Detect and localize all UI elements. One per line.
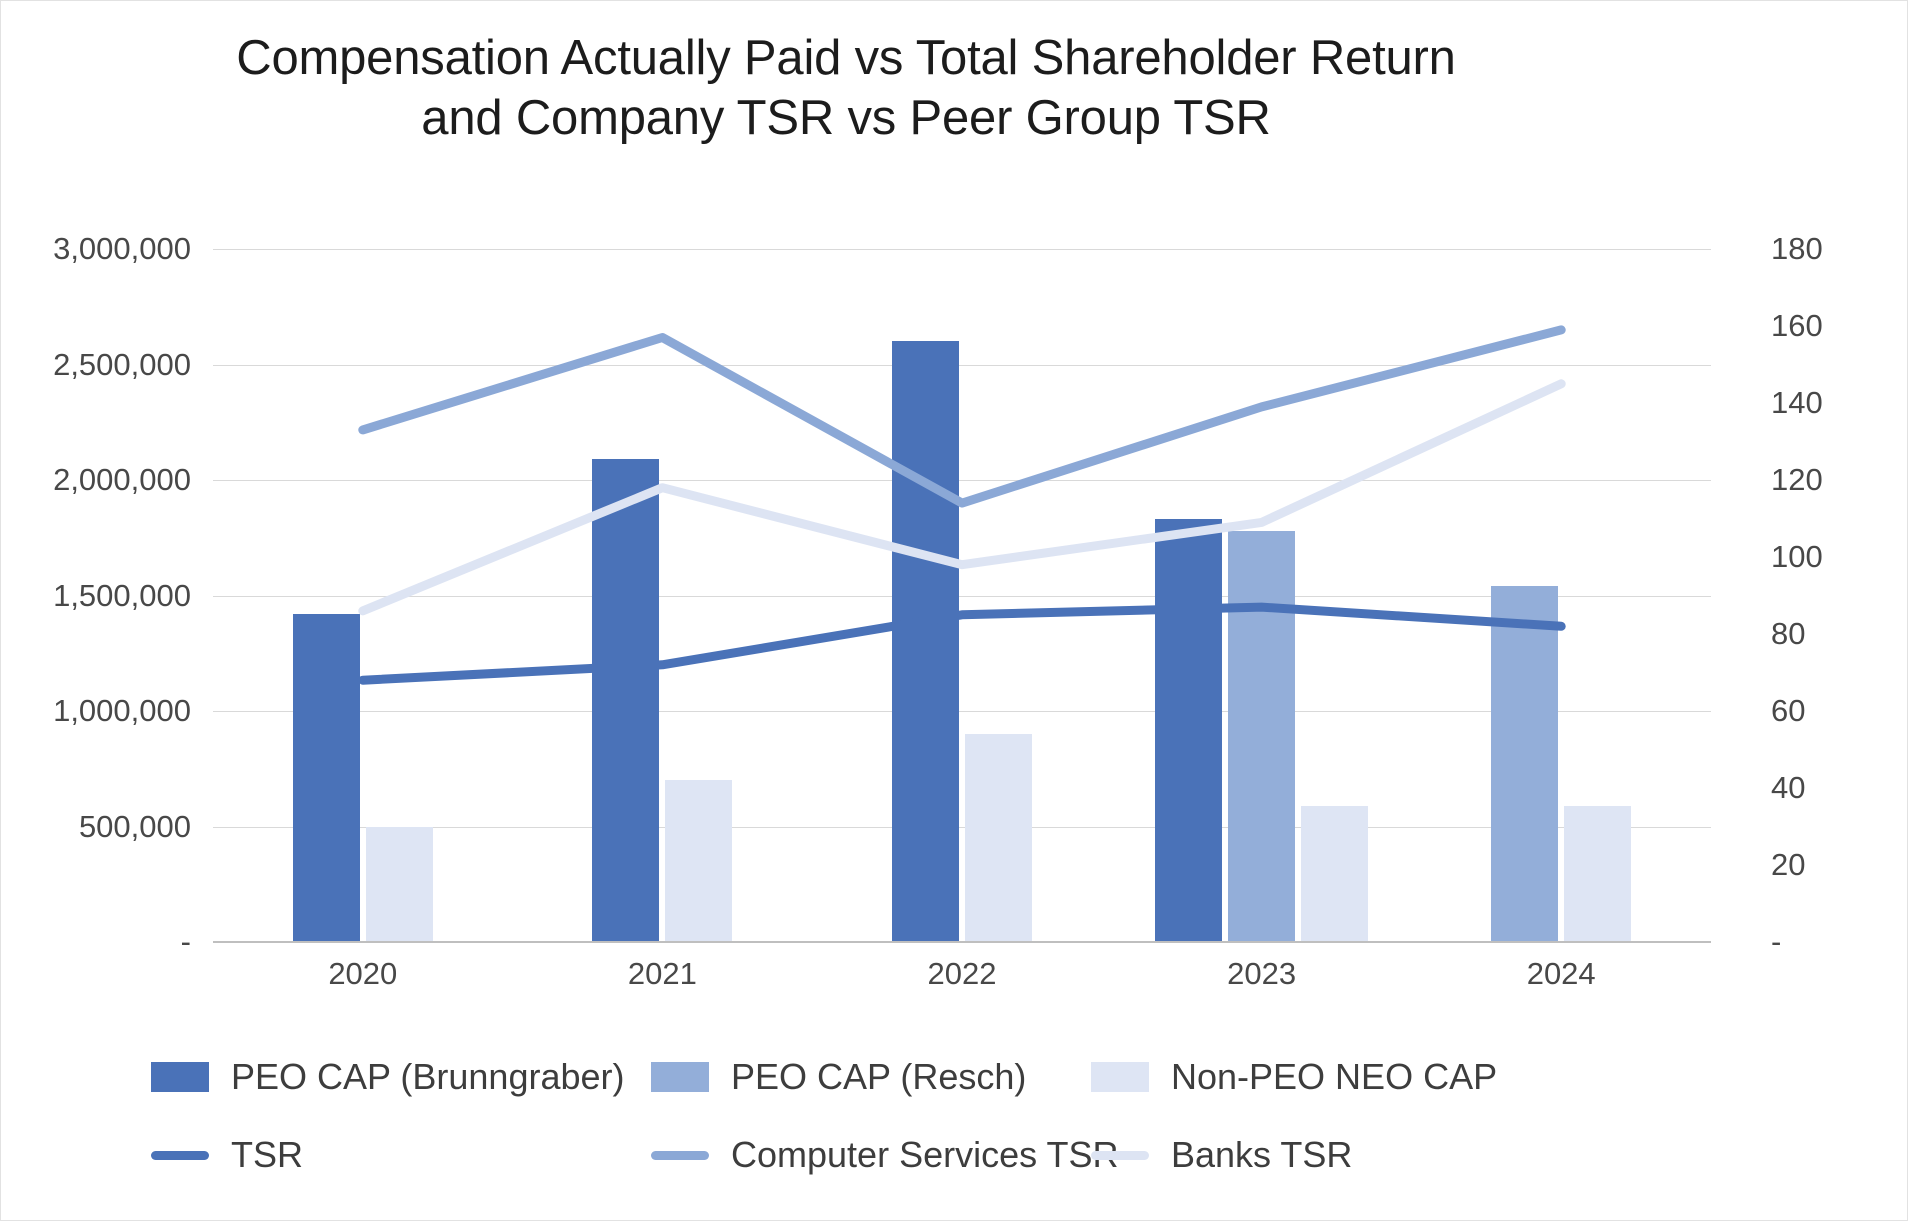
plot-area <box>213 249 1711 942</box>
chart-container: Compensation Actually Paid vs Total Shar… <box>0 0 1908 1221</box>
y-axis-left-tick-6: - <box>11 924 191 960</box>
y-axis-right-tick-5: 80 <box>1771 616 1881 652</box>
y-axis-right-tick-3: 120 <box>1771 462 1881 498</box>
legend-item-0[interactable]: PEO CAP (Brunngraber) <box>151 1056 625 1098</box>
bar-2020-series-2 <box>366 827 433 943</box>
legend-line-swatch-icon <box>651 1151 709 1160</box>
y-axis-left-tick-5: 500,000 <box>11 809 191 845</box>
bar-2024-series-1 <box>1491 586 1558 942</box>
bar-2023-series-0 <box>1155 519 1222 942</box>
x-axis-tick-2020: 2020 <box>328 956 397 992</box>
y-axis-right-tick-9: - <box>1771 924 1881 960</box>
legend-item-3[interactable]: TSR <box>151 1134 303 1176</box>
legend-label-0: PEO CAP (Brunngraber) <box>231 1056 625 1098</box>
legend-label-5: Banks TSR <box>1171 1134 1352 1176</box>
gridline <box>213 249 1711 250</box>
y-axis-right-tick-0: 180 <box>1771 231 1881 267</box>
bar-2021-series-0 <box>592 459 659 942</box>
gridline <box>213 365 1711 366</box>
x-axis-tick-2024: 2024 <box>1527 956 1596 992</box>
legend-box-swatch-icon <box>1091 1062 1149 1092</box>
line-series-1 <box>363 330 1561 503</box>
legend-item-1[interactable]: PEO CAP (Resch) <box>651 1056 1026 1098</box>
legend-label-3: TSR <box>231 1134 303 1176</box>
y-axis-right-tick-4: 100 <box>1771 539 1881 575</box>
y-axis-right-tick-6: 60 <box>1771 693 1881 729</box>
gridline <box>213 711 1711 712</box>
legend-item-5[interactable]: Banks TSR <box>1091 1134 1352 1176</box>
line-series-2 <box>363 384 1561 611</box>
legend-line-swatch-icon <box>151 1151 209 1160</box>
axis-baseline <box>213 941 1711 943</box>
legend-item-4[interactable]: Computer Services TSR <box>651 1134 1118 1176</box>
bar-2022-series-2 <box>965 734 1032 942</box>
legend-label-1: PEO CAP (Resch) <box>731 1056 1026 1098</box>
legend-item-2[interactable]: Non-PEO NEO CAP <box>1091 1056 1497 1098</box>
legend-box-swatch-icon <box>151 1062 209 1092</box>
y-axis-left-tick-0: 3,000,000 <box>11 231 191 267</box>
y-axis-right-tick-8: 20 <box>1771 847 1881 883</box>
y-axis-left-tick-2: 2,000,000 <box>11 462 191 498</box>
x-axis-tick-2021: 2021 <box>628 956 697 992</box>
legend-label-4: Computer Services TSR <box>731 1134 1118 1176</box>
bar-2021-series-2 <box>665 780 732 942</box>
chart-title-line-2: and Company TSR vs Peer Group TSR <box>121 89 1571 149</box>
bar-2024-series-2 <box>1564 806 1631 942</box>
y-axis-right-tick-2: 140 <box>1771 385 1881 421</box>
chart-title: Compensation Actually Paid vs Total Shar… <box>121 29 1571 149</box>
y-axis-left-tick-1: 2,500,000 <box>11 347 191 383</box>
chart-legend: PEO CAP (Brunngraber)PEO CAP (Resch)Non-… <box>151 1056 1601 1186</box>
chart-title-line-1: Compensation Actually Paid vs Total Shar… <box>121 29 1571 89</box>
legend-line-swatch-icon <box>1091 1151 1149 1160</box>
gridline <box>213 480 1711 481</box>
x-axis-tick-2023: 2023 <box>1227 956 1296 992</box>
y-axis-right-tick-7: 40 <box>1771 770 1881 806</box>
bar-2023-series-2 <box>1301 806 1368 942</box>
legend-box-swatch-icon <box>651 1062 709 1092</box>
gridline <box>213 827 1711 828</box>
y-axis-left-tick-3: 1,500,000 <box>11 578 191 614</box>
legend-label-2: Non-PEO NEO CAP <box>1171 1056 1497 1098</box>
bar-2023-series-1 <box>1228 531 1295 942</box>
y-axis-left-tick-4: 1,000,000 <box>11 693 191 729</box>
x-axis-tick-2022: 2022 <box>928 956 997 992</box>
y-axis-right-tick-1: 160 <box>1771 308 1881 344</box>
gridline <box>213 596 1711 597</box>
bar-2020-series-0 <box>293 614 360 942</box>
line-series-0 <box>363 607 1561 680</box>
bar-2022-series-0 <box>892 341 959 942</box>
